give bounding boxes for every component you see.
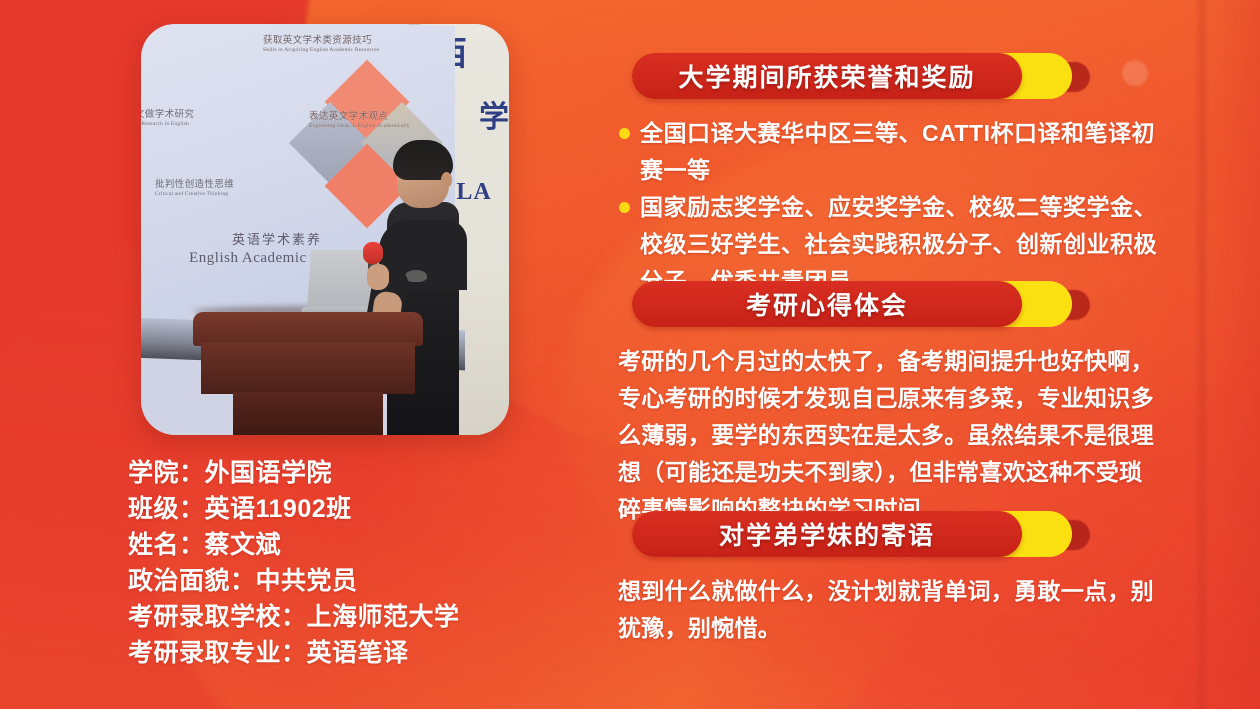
profile-line-name: 姓名：蔡文斌 (128, 527, 598, 563)
slide-label-left-cn: 英文做学术研究 (141, 106, 194, 120)
slide-label-left-en: Doing Research in English (141, 121, 194, 127)
slide-label-bottomleft-en: Critical and Creative Thinking (155, 191, 234, 197)
podium-top (193, 312, 423, 346)
podium-base (233, 392, 383, 435)
slide-label-right-cn: 表达英文学术观点 (309, 108, 410, 122)
section-experience-ribbon: 考研心得体会 (632, 281, 1072, 327)
photo-content: 西 学 语 N LA Significance 获取英文学术类资源技巧 Skil… (141, 24, 509, 435)
section-honors-ribbon: 大学期间所获荣誉和奖励 (632, 53, 1072, 99)
student-photo: 西 学 语 N LA Significance 获取英文学术类资源技巧 Skil… (141, 24, 509, 435)
section-message-ribbon: 对学弟学妹的寄语 (632, 511, 1072, 557)
slide-label-left: 英文做学术研究 Doing Research in English (141, 106, 194, 127)
message-paragraph: 想到什么就做什么，没计划就背单词，勇敢一点，别犹豫，别惋惜。 (618, 573, 1158, 647)
section-honors: 大学期间所获荣誉和奖励 全国口译大赛华中区三等、CATTI杯口译和笔译初赛一等 … (618, 53, 1198, 300)
honors-bullet-item: 全国口译大赛华中区三等、CATTI杯口译和笔译初赛一等 (618, 115, 1166, 189)
speaker-ear (441, 172, 452, 188)
poster-canvas: 西 学 语 N LA Significance 获取英文学术类资源技巧 Skil… (0, 0, 1260, 709)
profile-info-list: 学院：外国语学院 班级：英语11902班 姓名：蔡文斌 政治面貌：中共党员 考研… (128, 455, 598, 671)
right-content-column: 大学期间所获荣誉和奖励 全国口译大赛华中区三等、CATTI杯口译和笔译初赛一等 … (618, 0, 1198, 709)
profile-line-school: 考研录取学校：上海师范大学 (128, 599, 598, 635)
section-experience: 考研心得体会 考研的几个月过的太快了，备考期间提升也好快啊，专心考研的时候才发现… (618, 281, 1198, 528)
speaker-hand-upper (367, 264, 389, 290)
slide-label-bottomleft-cn: 批判性创造性思维 (155, 176, 234, 190)
slide-note-text: Significance (147, 24, 172, 27)
slide-label-top-en: Skills in Acquiring English Academic Res… (263, 47, 379, 53)
section-message-title: 对学弟学妹的寄语 (632, 511, 1022, 557)
podium-front (201, 342, 415, 394)
section-honors-title: 大学期间所获荣誉和奖励 (632, 53, 1022, 99)
profile-line-class: 班级：英语11902班 (128, 491, 598, 527)
profile-line-politics: 政治面貌：中共党员 (128, 563, 598, 599)
slide-label-bottomleft: 批判性创造性思维 Critical and Creative Thinking (155, 176, 234, 197)
profile-line-major: 考研录取专业：英语笔译 (128, 635, 598, 671)
honors-bullet-list: 全国口译大赛华中区三等、CATTI杯口译和笔译初赛一等 国家励志奖学金、应安奖学… (618, 115, 1166, 300)
slide-title-cn: 英语学术素养 (177, 229, 377, 248)
profile-line-college: 学院：外国语学院 (128, 455, 598, 491)
microphone-head-icon (363, 242, 383, 264)
slide-label-right-en: Expressing Ideas in English Academically (309, 123, 410, 129)
section-experience-title: 考研心得体会 (632, 281, 1022, 327)
slide-label-right: 表达英文学术观点 Expressing Ideas in English Aca… (309, 108, 410, 129)
slide-label-top: 获取英文学术类资源技巧 Skills in Acquiring English … (263, 32, 379, 53)
backdrop-character-2: 学 (479, 92, 509, 136)
section-message: 对学弟学妹的寄语 想到什么就做什么，没计划就背单词，勇敢一点，别犹豫，别惋惜。 (618, 511, 1198, 647)
background-right-edge (1210, 0, 1260, 709)
shirt-logo (405, 270, 427, 282)
experience-paragraph: 考研的几个月过的太快了，备考期间提升也好快啊，专心考研的时候才发现自己原来有多菜… (618, 343, 1158, 528)
slide-label-top-cn: 获取英文学术类资源技巧 (263, 32, 379, 46)
